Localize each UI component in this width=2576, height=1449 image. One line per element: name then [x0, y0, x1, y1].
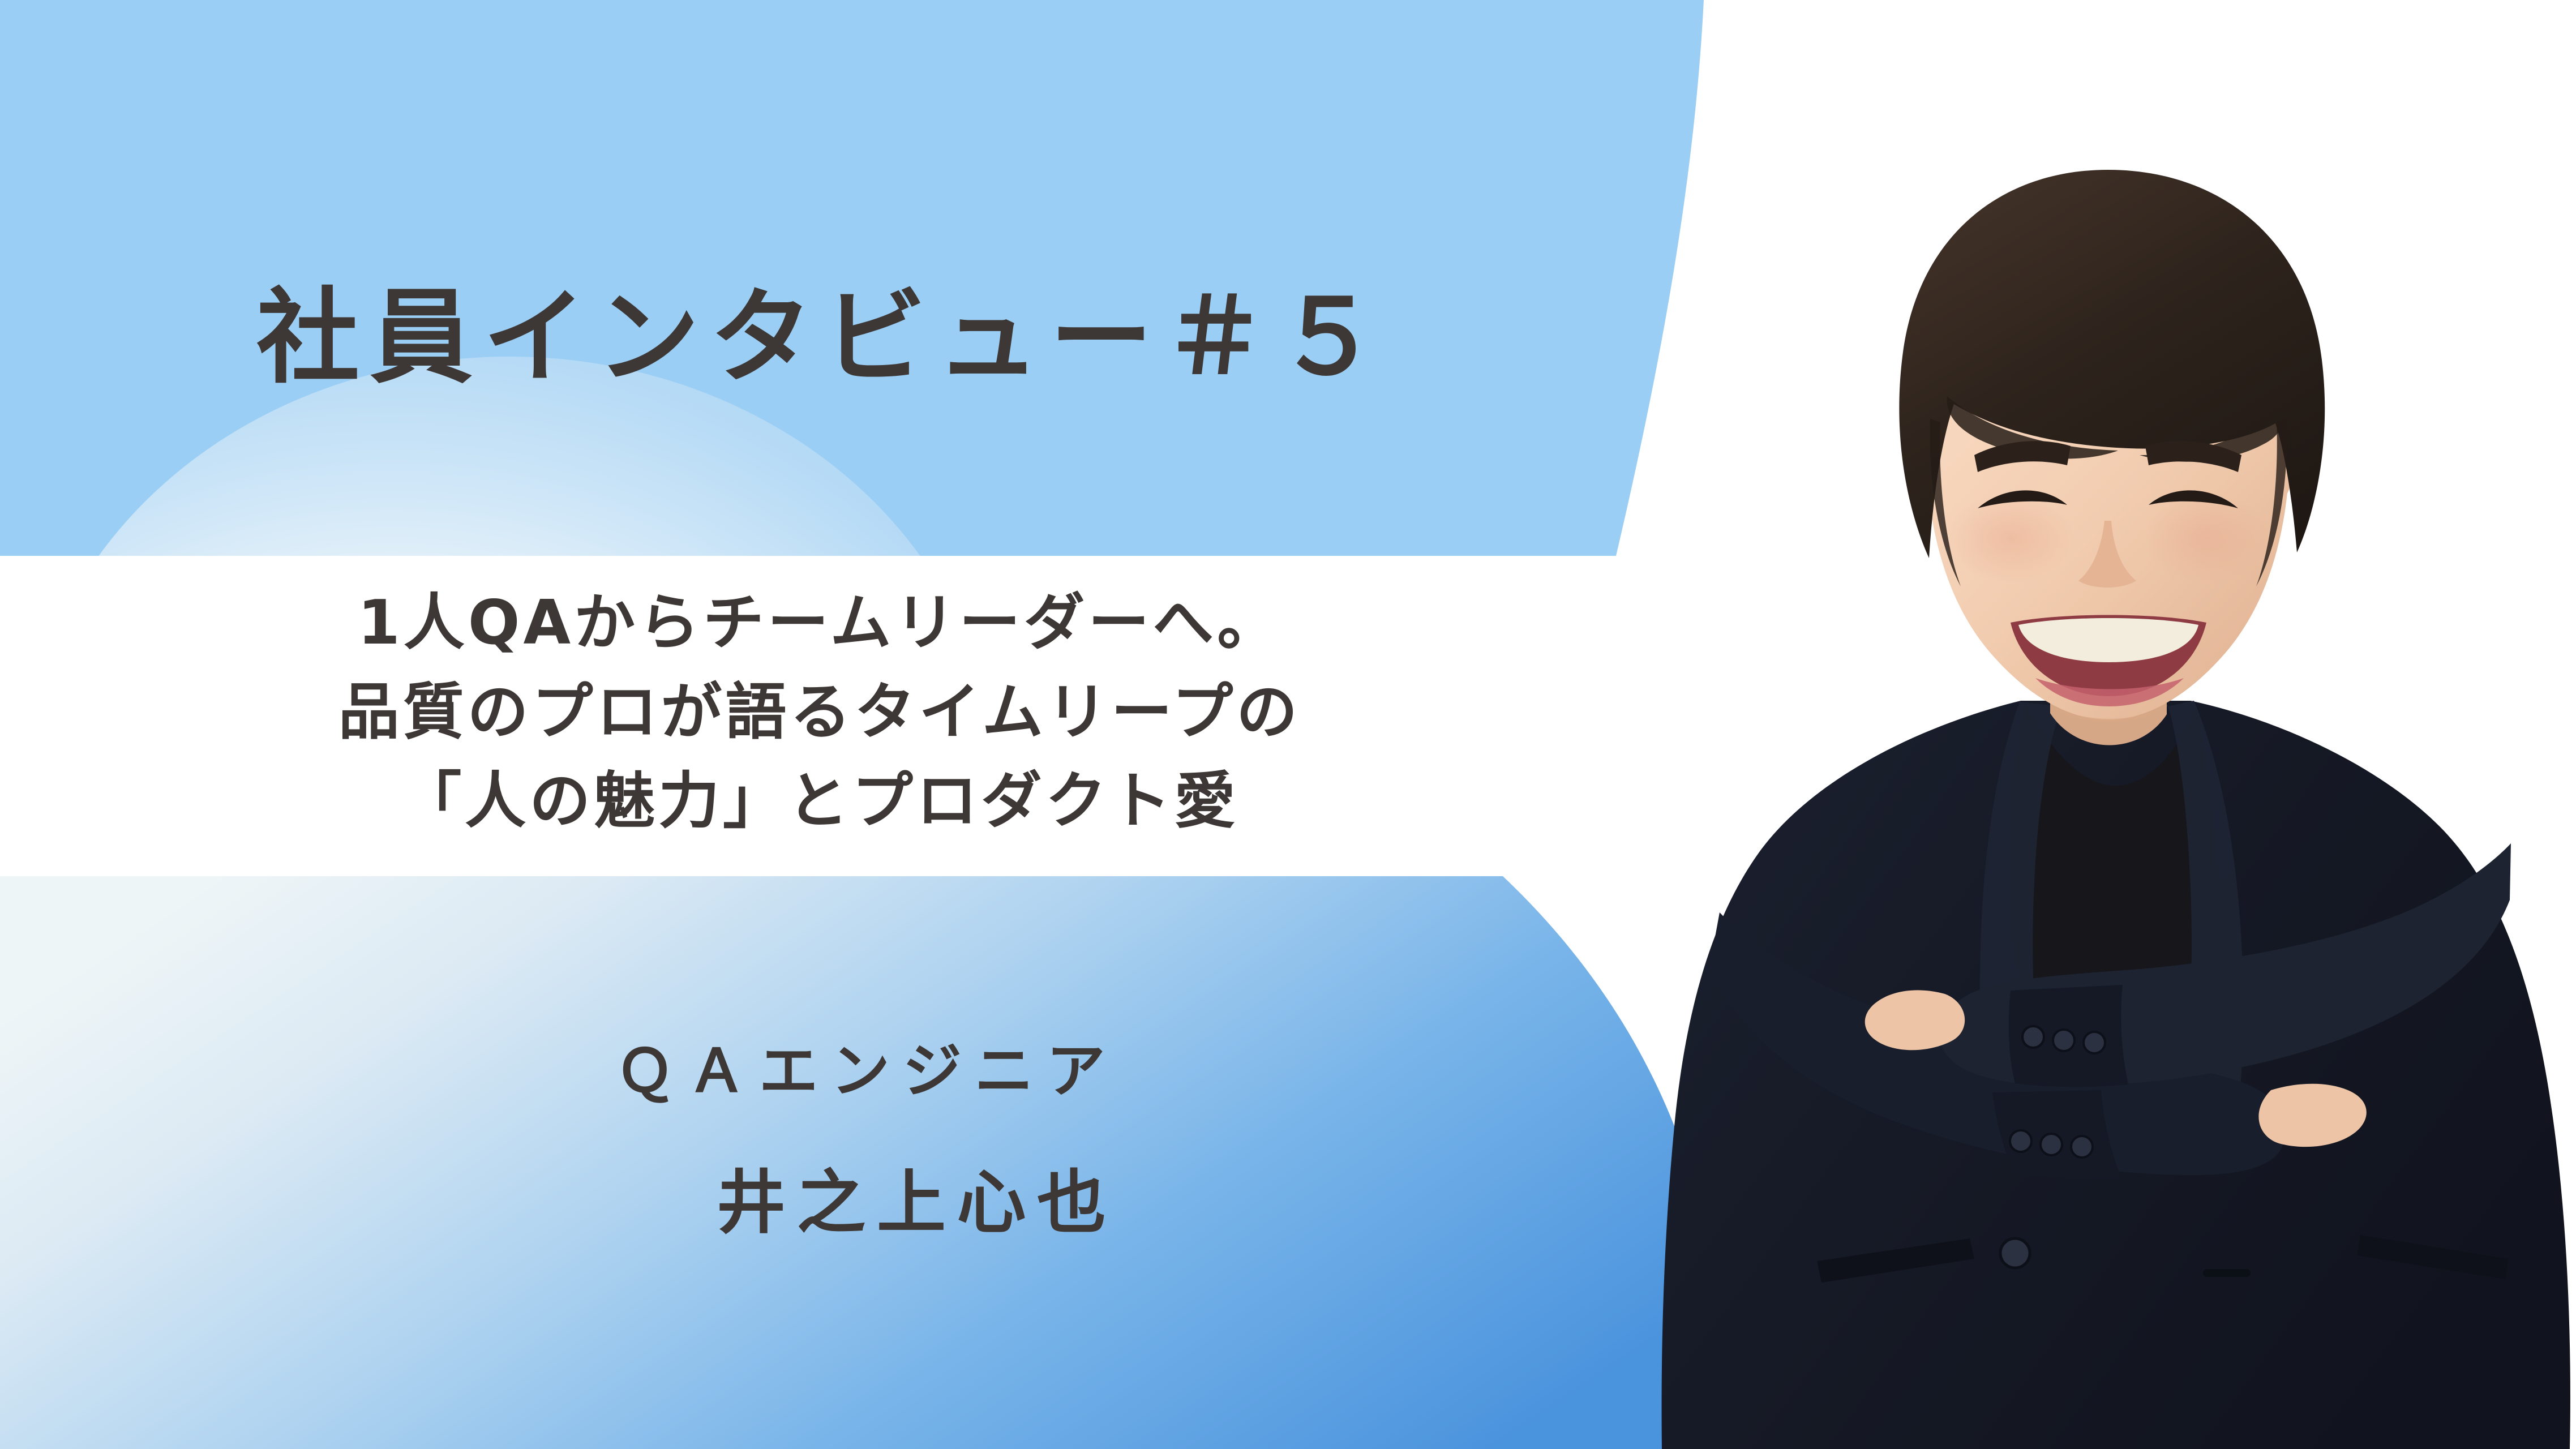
subtitle-line-2: 品質のプロが語るタイムリープの [0, 668, 1636, 757]
page-title: 社員インタビュー＃５ [246, 282, 1390, 393]
person-name: 井之上心也 [187, 1168, 1636, 1237]
person-role: ＱＡエンジニア [85, 1041, 1636, 1100]
subtitle-line-3: 「人の魅力」とプロダクト愛 [0, 757, 1636, 846]
subtitle-line-1: 1人QAからチームリーダーへ。 [0, 578, 1636, 668]
subtitle-block: 1人QAからチームリーダーへ。 品質のプロが語るタイムリープの 「人の魅力」とプ… [0, 578, 1636, 846]
credit-block: ＱＡエンジニア 井之上心也 [0, 1041, 1636, 1237]
key-visual-banner: 社員インタビュー＃５ 1人QAからチームリーダーへ。 品質のプロが語るタイムリー… [0, 0, 2576, 1449]
headline-block: 社員インタビュー＃５ [0, 282, 1636, 393]
